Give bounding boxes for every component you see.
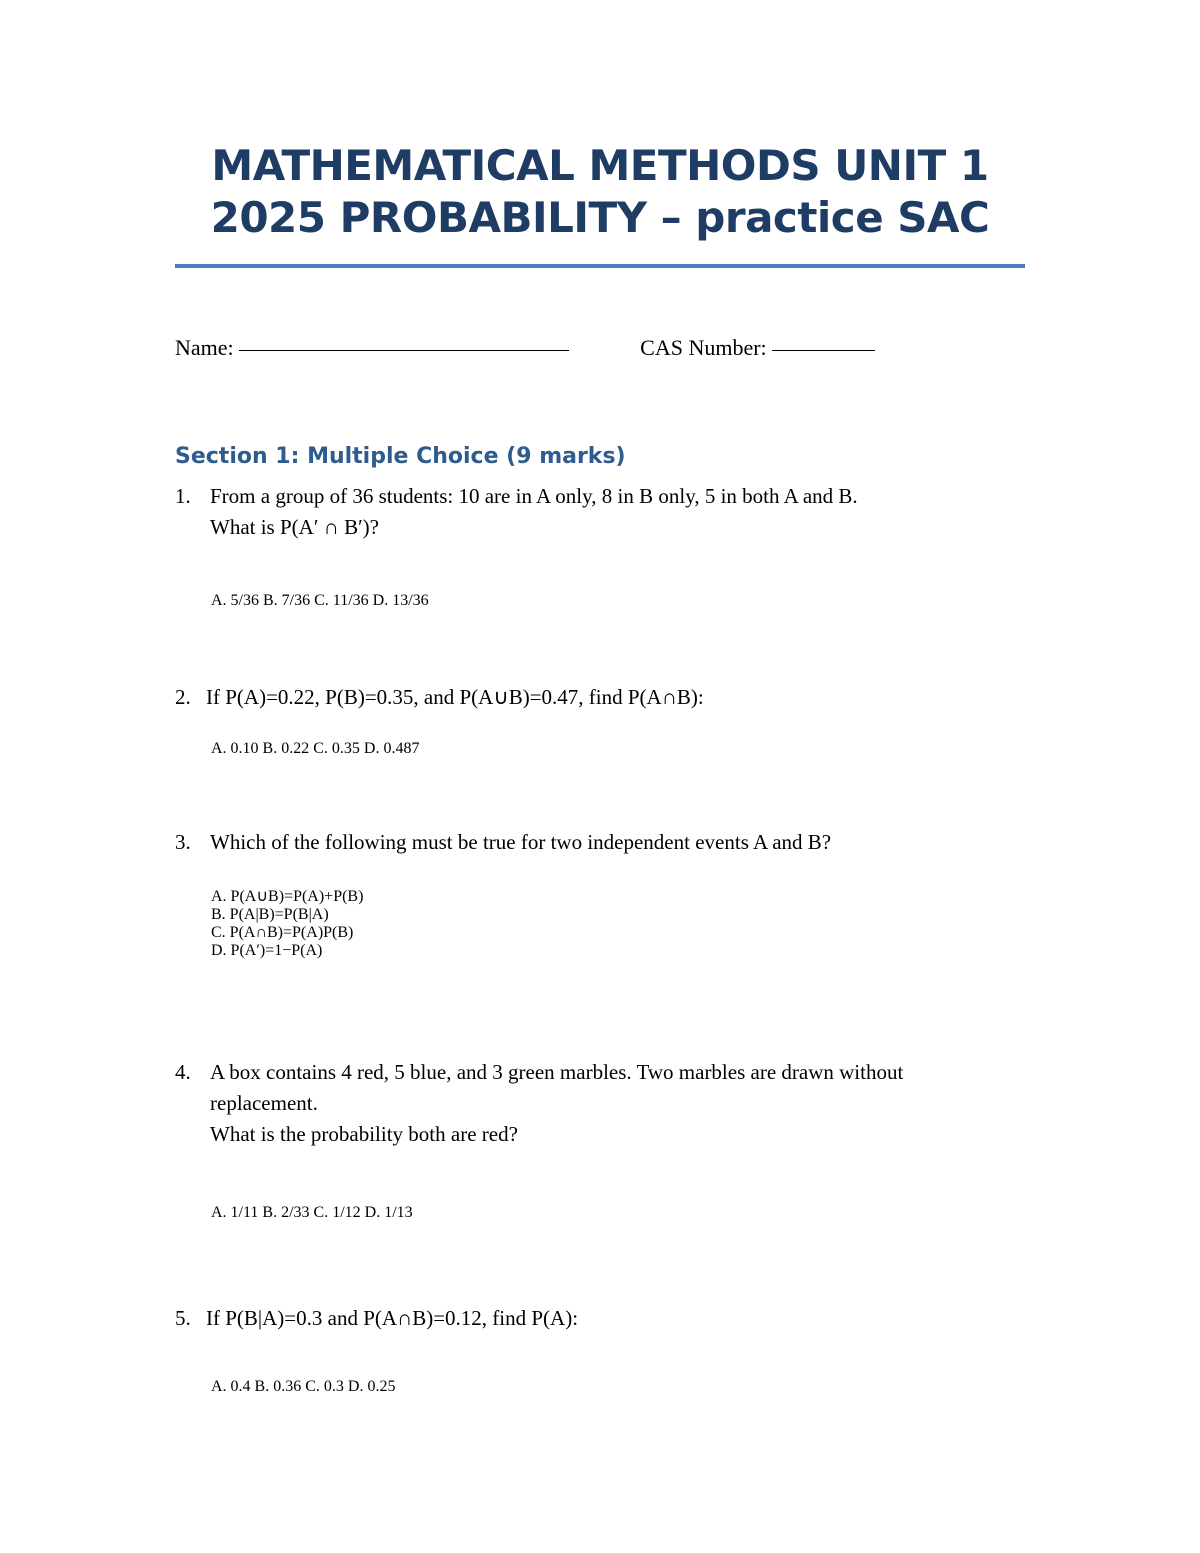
question-3: 3. Which of the following must be true f… [175,827,1005,858]
identity-row: Name: CAS Number: [175,334,1025,362]
question-5-text: If P(B|A)=0.3 and P(A∩B)=0.12, find P(A)… [206,1303,1005,1334]
question-4-number: 4. [175,1057,209,1088]
question-1-options: A. 5/36 B. 7/36 C. 11/36 D. 13/36 [211,592,429,610]
question-2: 2. If P(A)=0.22, P(B)=0.35, and P(A∪B)=0… [175,682,1005,713]
question-3-text: Which of the following must be true for … [210,827,1005,858]
question-3-option-c[interactable]: C. P(A∩B)=P(A)P(B) [211,924,363,942]
question-4-text: A box contains 4 red, 5 blue, and 3 gree… [210,1057,1010,1150]
document-title: MATHEMATICAL METHODS UNIT 1 2025 PROBABI… [175,140,1025,244]
question-4-options-row[interactable]: A. 1/11 B. 2/33 C. 1/12 D. 1/13 [211,1204,413,1221]
question-5-number: 5. [175,1303,209,1334]
question-1-text: From a group of 36 students: 10 are in A… [210,481,970,543]
question-2-options-row[interactable]: A. 0.10 B. 0.22 C. 0.35 D. 0.487 [211,740,419,757]
question-3-options: A. P(A∪B)=P(A)+P(B) B. P(A|B)=P(B|A) C. … [211,886,363,960]
name-label: Name: [175,335,234,360]
title-line-2: 2025 PROBABILITY – practice SAC [175,192,1025,244]
question-2-number: 2. [175,682,209,713]
question-1-options-row[interactable]: A. 5/36 B. 7/36 C. 11/36 D. 13/36 [211,592,429,609]
question-5-options: A. 0.4 B. 0.36 C. 0.3 D. 0.25 [211,1378,395,1396]
section-1-heading: Section 1: Multiple Choice (9 marks) [175,443,626,471]
question-3-option-d[interactable]: D. P(A′)=1−P(A) [211,942,363,960]
question-5-line-1: If P(B|A)=0.3 and P(A∩B)=0.12, find P(A)… [206,1303,1005,1334]
question-3-line-1: Which of the following must be true for … [210,827,1005,858]
question-4-line-1: A box contains 4 red, 5 blue, and 3 gree… [210,1057,1010,1088]
cas-number-input-line[interactable] [772,350,875,351]
question-1: 1. From a group of 36 students: 10 are i… [175,481,1005,543]
question-2-options: A. 0.10 B. 0.22 C. 0.35 D. 0.487 [211,740,419,758]
name-input-line[interactable] [239,350,569,351]
title-line-1: MATHEMATICAL METHODS UNIT 1 [175,140,1025,192]
question-5: 5. If P(B|A)=0.3 and P(A∩B)=0.12, find P… [175,1303,1005,1334]
question-5-options-row[interactable]: A. 0.4 B. 0.36 C. 0.3 D. 0.25 [211,1378,395,1395]
question-2-text: If P(A)=0.22, P(B)=0.35, and P(A∪B)=0.47… [206,682,1005,713]
question-4-line-3: What is the probability both are red? [210,1119,1010,1150]
question-1-number: 1. [175,481,209,512]
question-3-number: 3. [175,827,209,858]
cas-number-label: CAS Number: [640,335,767,360]
question-4: 4. A box contains 4 red, 5 blue, and 3 g… [175,1057,1005,1150]
question-3-option-b[interactable]: B. P(A|B)=P(B|A) [211,906,363,924]
question-3-option-a[interactable]: A. P(A∪B)=P(A)+P(B) [211,886,363,906]
question-4-options: A. 1/11 B. 2/33 C. 1/12 D. 1/13 [211,1204,413,1222]
document-page: MATHEMATICAL METHODS UNIT 1 2025 PROBABI… [0,0,1200,1553]
question-4-line-2: replacement. [210,1088,1010,1119]
title-divider-rule [175,264,1025,268]
question-1-line-1: From a group of 36 students: 10 are in A… [210,481,970,512]
question-2-line-1: If P(A)=0.22, P(B)=0.35, and P(A∪B)=0.47… [206,682,1005,713]
question-1-line-2: What is P(A′ ∩ B′)? [210,512,970,543]
